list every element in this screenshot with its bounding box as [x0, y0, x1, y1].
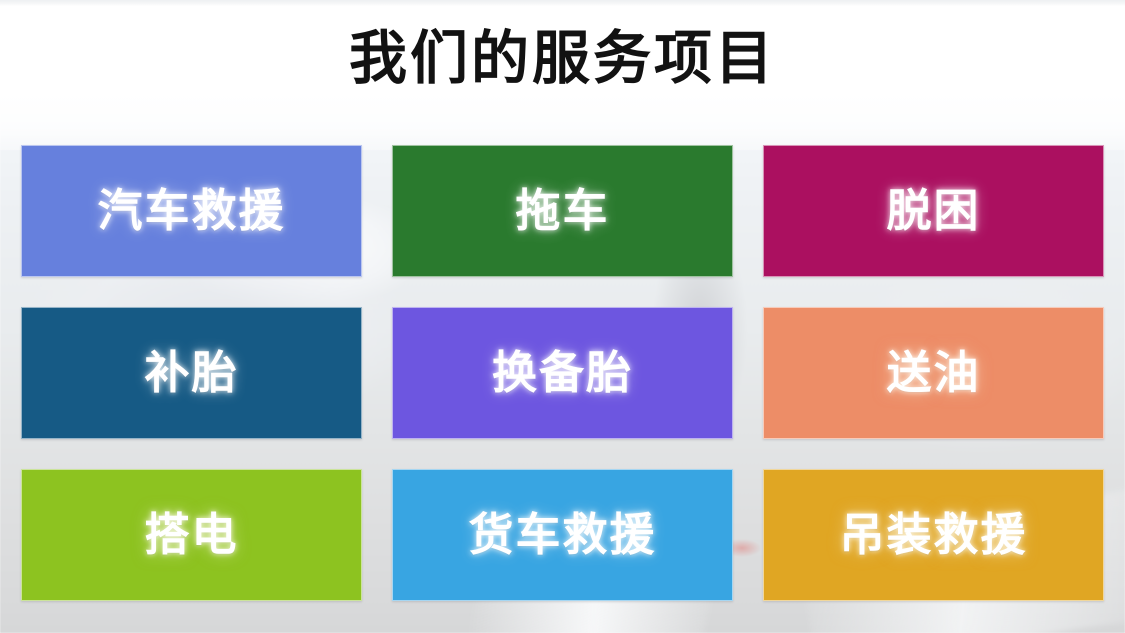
service-tile-tow-truck[interactable]: 拖车 [392, 145, 733, 277]
service-tile-hoisting-rescue[interactable]: 吊装救援 [763, 469, 1104, 601]
service-tile-car-rescue[interactable]: 汽车救援 [21, 145, 362, 277]
service-tile-label: 脱困 [886, 186, 980, 236]
service-tile-jump-start[interactable]: 搭电 [21, 469, 362, 601]
service-tile-label: 搭电 [144, 510, 238, 560]
service-tile-fuel-delivery[interactable]: 送油 [763, 307, 1104, 439]
service-tile-label: 补胎 [144, 348, 238, 398]
service-tile-truck-rescue[interactable]: 货车救援 [392, 469, 733, 601]
service-tile-label: 拖车 [515, 186, 609, 236]
service-tile-spare-tire-change[interactable]: 换备胎 [392, 307, 733, 439]
service-tile-extrication[interactable]: 脱困 [763, 145, 1104, 277]
page-title: 我们的服务项目 [0, 24, 1125, 92]
service-tile-label: 送油 [886, 348, 980, 398]
background-top-hairline [0, 0, 1125, 6]
service-tile-label: 汽车救援 [97, 186, 285, 236]
service-tile-label: 换备胎 [492, 348, 633, 398]
service-tile-label: 吊装救援 [839, 510, 1027, 560]
service-tile-tire-repair[interactable]: 补胎 [21, 307, 362, 439]
service-poster: 我们的服务项目 汽车救援 拖车 脱困 补胎 换备胎 送油 搭电 货车救援 吊装救… [0, 0, 1125, 633]
service-tile-label: 货车救援 [468, 510, 656, 560]
service-grid: 汽车救援 拖车 脱困 补胎 换备胎 送油 搭电 货车救援 吊装救援 [21, 145, 1103, 601]
